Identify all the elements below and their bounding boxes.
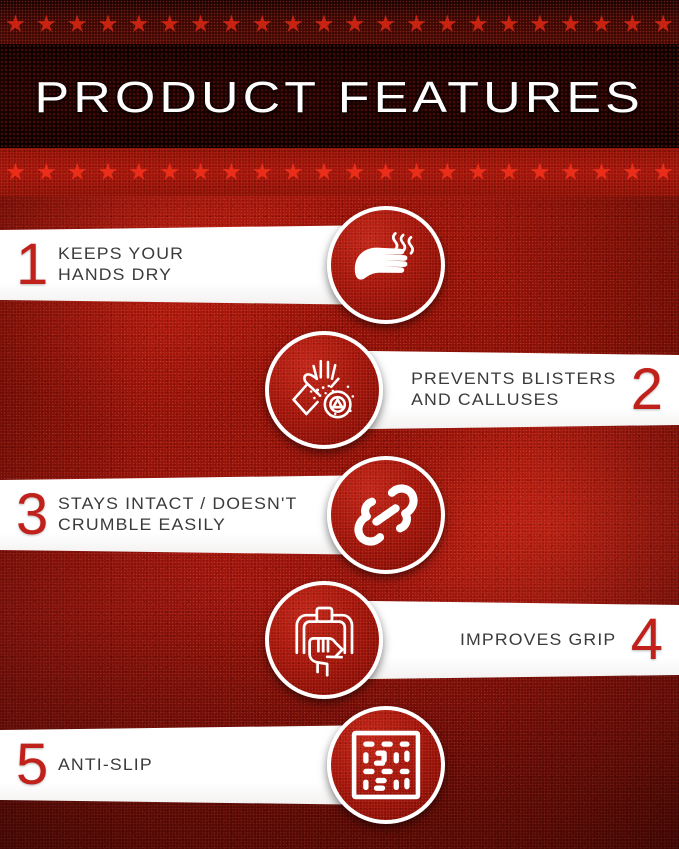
star-icon bbox=[592, 163, 611, 182]
feature-icon-badge-4 bbox=[265, 581, 383, 699]
star-icon bbox=[500, 15, 519, 34]
fist-grip-icon bbox=[284, 600, 364, 680]
product-features-poster: PRODUCT FEATURES 1 KEEPS YOUR HANDS DRY bbox=[0, 0, 679, 849]
star-icon bbox=[530, 163, 549, 182]
feature-icon-badge-5 bbox=[327, 706, 445, 824]
star-icon bbox=[345, 163, 364, 182]
star-icon bbox=[253, 15, 272, 34]
feature-number-5: 5 bbox=[16, 736, 48, 794]
star-band-bottom bbox=[0, 148, 679, 196]
star-icon bbox=[160, 15, 179, 34]
star-icon bbox=[561, 163, 580, 182]
poster-header: PRODUCT FEATURES bbox=[0, 0, 679, 196]
feature-icon-badge-3 bbox=[327, 456, 445, 574]
star-icon bbox=[99, 163, 118, 182]
feature-label-4: IMPROVES GRIP bbox=[460, 630, 616, 651]
feature-label-1: KEEPS YOUR HANDS DRY bbox=[58, 244, 184, 285]
chain-link-icon bbox=[349, 478, 423, 552]
star-icon bbox=[314, 15, 333, 34]
star-icon bbox=[376, 15, 395, 34]
feature-label-3: STAYS INTACT / DOESN'T CRUMBLE EASILY bbox=[58, 494, 297, 535]
star-icon bbox=[530, 15, 549, 34]
star-icon bbox=[469, 163, 488, 182]
chalk-hand-icon bbox=[284, 350, 364, 430]
star-icon bbox=[99, 15, 118, 34]
feature-icon-badge-2 bbox=[265, 331, 383, 449]
feature-row-1: 1 KEEPS YOUR HANDS DRY bbox=[0, 206, 679, 324]
star-icon bbox=[191, 15, 210, 34]
star-icon bbox=[314, 163, 333, 182]
feature-label-2: PREVENTS BLISTERS AND CALLUSES bbox=[412, 369, 617, 410]
star-icon bbox=[222, 163, 241, 182]
star-icon bbox=[68, 15, 87, 34]
feature-number-2: 2 bbox=[631, 361, 663, 419]
feature-row-2: 2 PREVENTS BLISTERS AND CALLUSES bbox=[0, 331, 679, 449]
star-icon bbox=[129, 15, 148, 34]
star-icon bbox=[623, 15, 642, 34]
star-icon bbox=[284, 15, 303, 34]
feature-number-3: 3 bbox=[16, 486, 48, 544]
star-icon bbox=[407, 15, 426, 34]
feature-number-4: 4 bbox=[631, 611, 663, 669]
page-title: PRODUCT FEATURES bbox=[35, 73, 644, 123]
feature-row-4: 4 IMPROVES GRIP bbox=[0, 581, 679, 699]
star-icon bbox=[129, 163, 148, 182]
star-icon bbox=[438, 15, 457, 34]
star-icon bbox=[253, 163, 272, 182]
star-icon bbox=[37, 15, 56, 34]
star-icon bbox=[407, 163, 426, 182]
star-icon bbox=[654, 163, 673, 182]
title-band: PRODUCT FEATURES bbox=[0, 44, 679, 152]
star-icon bbox=[6, 163, 25, 182]
feature-label-5: ANTI-SLIP bbox=[58, 755, 153, 776]
star-icon bbox=[160, 163, 179, 182]
star-icon bbox=[438, 163, 457, 182]
star-row-top bbox=[0, 15, 679, 34]
star-band-top bbox=[0, 0, 679, 48]
dry-hand-icon bbox=[347, 226, 425, 304]
feature-icon-badge-1 bbox=[327, 206, 445, 324]
star-icon bbox=[6, 15, 25, 34]
star-icon bbox=[469, 15, 488, 34]
star-icon bbox=[68, 163, 87, 182]
star-icon bbox=[191, 163, 210, 182]
star-icon bbox=[592, 15, 611, 34]
star-icon bbox=[37, 163, 56, 182]
star-icon bbox=[222, 15, 241, 34]
tread-pattern-icon bbox=[348, 727, 424, 803]
star-icon bbox=[654, 15, 673, 34]
star-icon bbox=[376, 163, 395, 182]
star-icon bbox=[345, 15, 364, 34]
feature-row-3: 3 STAYS INTACT / DOESN'T CRUMBLE EASILY bbox=[0, 456, 679, 574]
star-row-bottom bbox=[0, 163, 679, 182]
star-icon bbox=[623, 163, 642, 182]
feature-row-5: 5 ANTI-SLIP bbox=[0, 706, 679, 824]
star-icon bbox=[561, 15, 580, 34]
feature-number-1: 1 bbox=[16, 236, 48, 294]
star-icon bbox=[284, 163, 303, 182]
star-icon bbox=[500, 163, 519, 182]
